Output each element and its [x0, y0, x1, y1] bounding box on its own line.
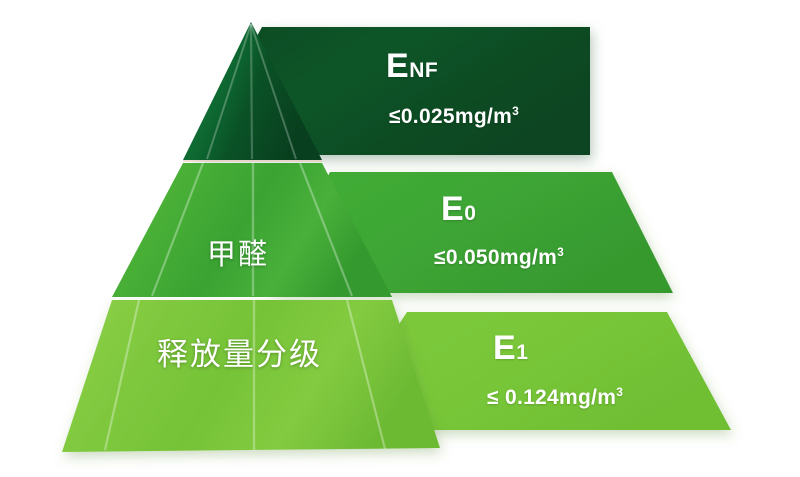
grade-label-e0: E0 — [441, 192, 476, 226]
limit-value-e1: ≤ 0.124mg/m3 — [487, 381, 623, 409]
limit-value-e0: ≤0.050mg/m3 — [434, 241, 564, 269]
pyramid-tier-bottom — [62, 300, 440, 452]
grade-main-e0: E — [441, 190, 464, 228]
grade-sub-enf: NF — [409, 59, 438, 82]
grade-sub-e1: 1 — [516, 341, 528, 364]
limit-text-enf: ≤0.025mg/m — [389, 105, 512, 128]
pyramid-label-line2: 释放量分级 — [157, 329, 322, 374]
limit-sup-e0: 3 — [557, 245, 564, 259]
grade-label-e1: E1 — [493, 331, 528, 365]
grade-main-e1: E — [493, 329, 516, 367]
limit-value-enf: ≤0.025mg/m3 — [389, 100, 519, 128]
formaldehyde-grade-pyramid-figure: ENF ≤0.025mg/m3 E0 ≤0.050mg/m3 E1 ≤ 0.12… — [0, 0, 800, 477]
limit-sup-e1: 3 — [616, 385, 623, 399]
limit-sup-enf: 3 — [512, 104, 519, 118]
grade-main-enf: E — [386, 47, 409, 85]
grade-sub-e0: 0 — [464, 202, 476, 225]
limit-text-e1: ≤ 0.124mg/m — [487, 386, 616, 409]
pyramid-label-line1: 甲醛 — [207, 231, 269, 273]
grade-label-enf: ENF — [386, 49, 438, 83]
limit-text-e0: ≤0.050mg/m — [434, 246, 557, 269]
